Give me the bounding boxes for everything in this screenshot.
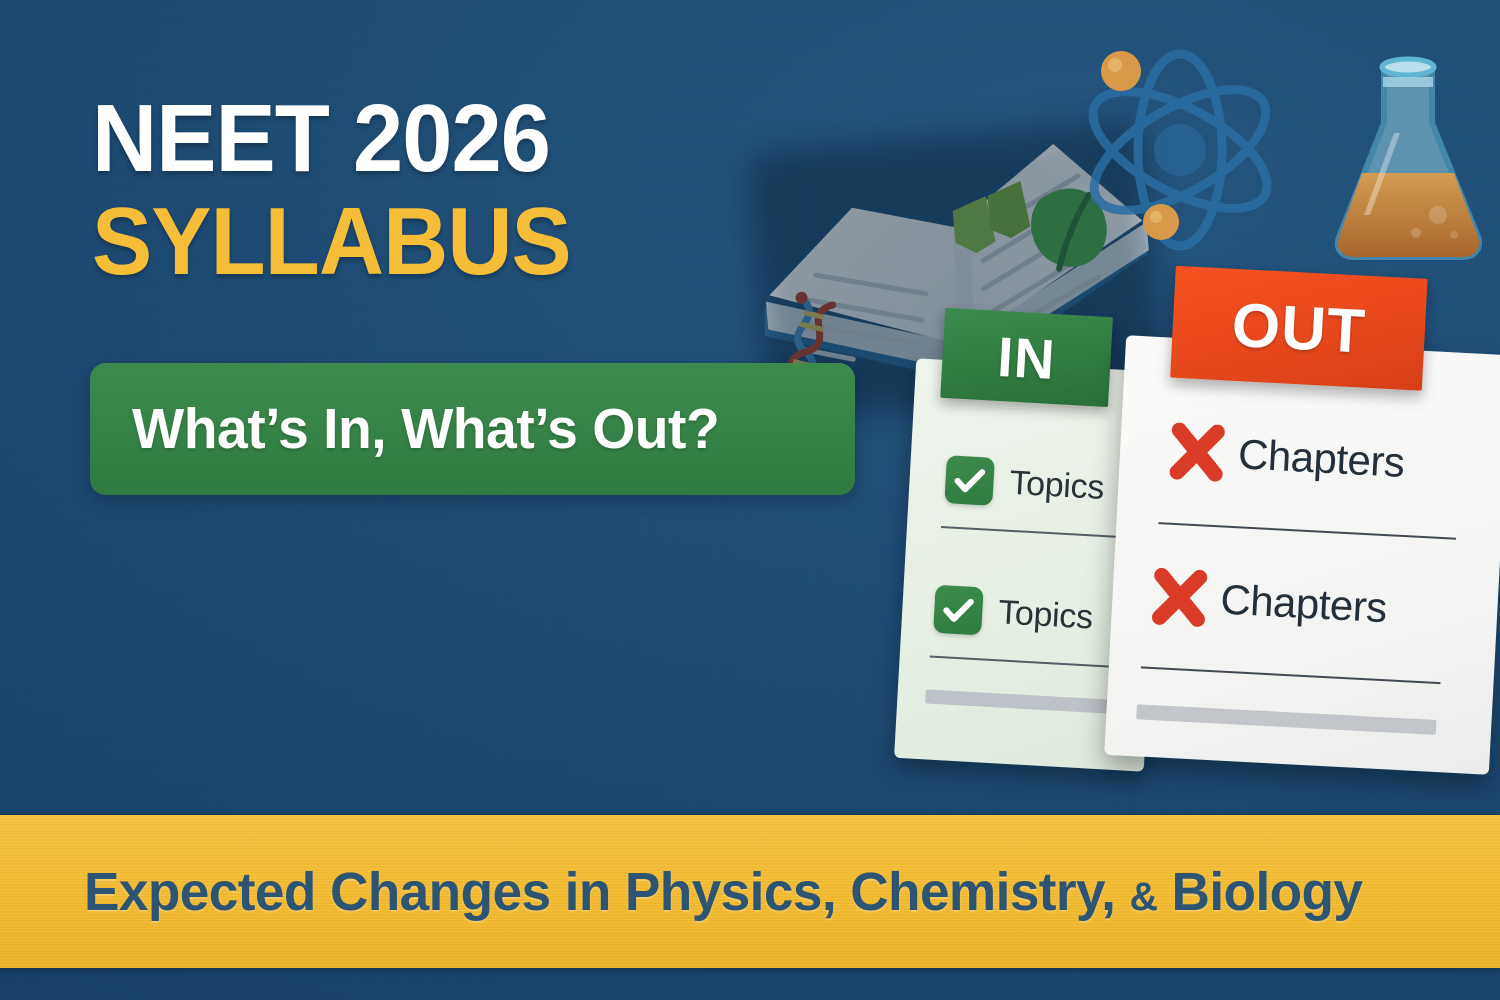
in-row-2-label: Topics [997, 593, 1094, 637]
out-card: OUT Chapters Chapters [1104, 335, 1500, 775]
banner-text-part1: Expected Changes in Physics, Chemistry, [84, 862, 1115, 922]
banner-text: Expected Changes in Physics, Chemistry, … [84, 861, 1362, 923]
x-icon [1165, 420, 1230, 485]
subtitle-text: What’s In, What’s Out? [132, 396, 719, 462]
atom-icon [1055, 25, 1305, 275]
headline-block: NEET 2026 SYLLABUS [92, 92, 852, 290]
out-row-1-label: Chapters [1237, 430, 1406, 487]
x-icon [1147, 565, 1212, 630]
out-row-2-label: Chapters [1219, 576, 1388, 633]
check-icon [944, 455, 995, 506]
out-row-1: Chapters [1165, 420, 1406, 494]
bottom-banner: Expected Changes in Physics, Chemistry, … [0, 815, 1500, 968]
in-tab-label: IN [996, 323, 1058, 391]
erlenmeyer-flask-icon [1320, 55, 1495, 265]
headline-line-1: NEET 2026 [92, 92, 806, 186]
in-row-1: Topics [944, 455, 1105, 512]
out-tab-label: OUT [1230, 289, 1367, 367]
out-row-2: Chapters [1147, 565, 1388, 639]
banner-text-part2: Biology [1172, 862, 1363, 922]
headline-line-2: SYLLABUS [92, 194, 806, 290]
out-tab: OUT [1170, 266, 1428, 391]
in-row-2: Topics [933, 585, 1094, 642]
in-row-1-label: Topics [1008, 463, 1105, 507]
check-icon [933, 585, 984, 636]
subtitle-badge: What’s In, What’s Out? [90, 363, 855, 495]
in-tab: IN [940, 308, 1113, 407]
poster-canvas: IN Topics Topics OUT Chapters [0, 0, 1500, 1000]
banner-ampersand: & [1129, 875, 1157, 919]
